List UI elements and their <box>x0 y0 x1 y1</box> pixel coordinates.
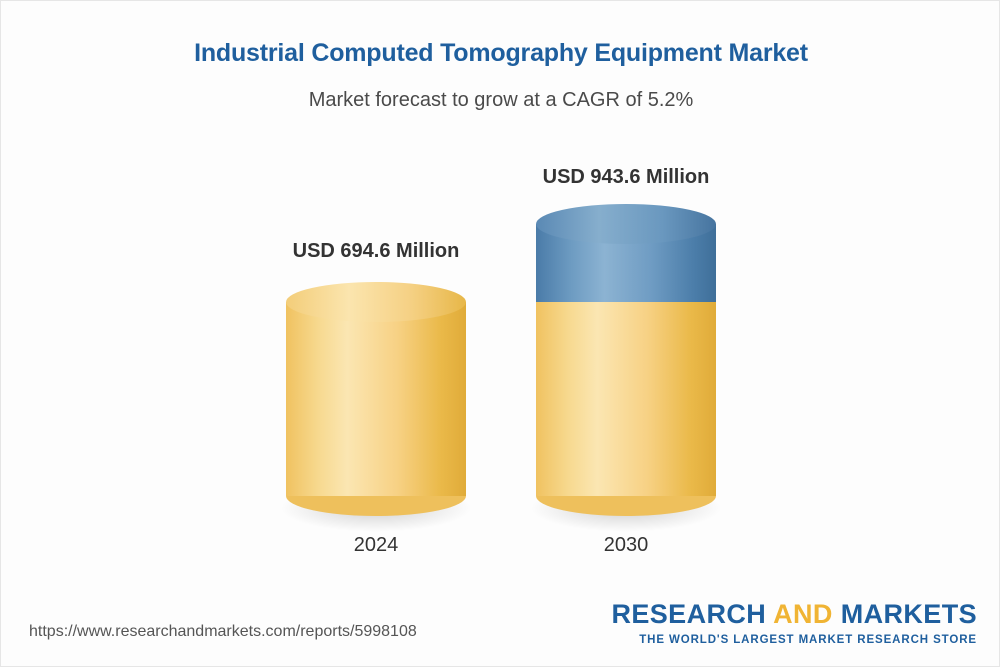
brand-logo-wordmark: RESEARCH AND MARKETS <box>611 601 977 628</box>
plot-area: USD 694.6 Million 2024 USD 943.6 Million <box>1 1 1000 667</box>
bar-cylinder-2024 <box>286 282 466 517</box>
brand-logo-part1: RESEARCH <box>611 599 773 629</box>
bar-group-2030: USD 943.6 Million 2030 <box>536 1 716 667</box>
bar-cylinder-2030 <box>536 204 716 517</box>
brand-logo: RESEARCH AND MARKETS THE WORLD'S LARGEST… <box>611 601 977 647</box>
bar-value-label-2024: USD 694.6 Million <box>216 240 536 263</box>
axis-tick-label-2030: 2030 <box>466 534 786 557</box>
bar-group-2024: USD 694.6 Million 2024 <box>286 1 466 667</box>
bar-value-label-2030: USD 943.6 Million <box>466 166 786 189</box>
bar-cylinder-top-2030 <box>536 204 716 244</box>
brand-logo-part3: MARKETS <box>833 599 977 629</box>
brand-logo-tagline: THE WORLD'S LARGEST MARKET RESEARCH STOR… <box>611 635 977 647</box>
bar-cylinder-top-2024 <box>286 282 466 322</box>
brand-logo-part2: AND <box>773 599 833 629</box>
source-url[interactable]: https://www.researchandmarkets.com/repor… <box>29 623 417 641</box>
bar-segment-base-2030 <box>536 302 716 496</box>
bar-cylinder-body-2024 <box>286 302 466 496</box>
chart-canvas: Industrial Computed Tomography Equipment… <box>0 0 1000 667</box>
